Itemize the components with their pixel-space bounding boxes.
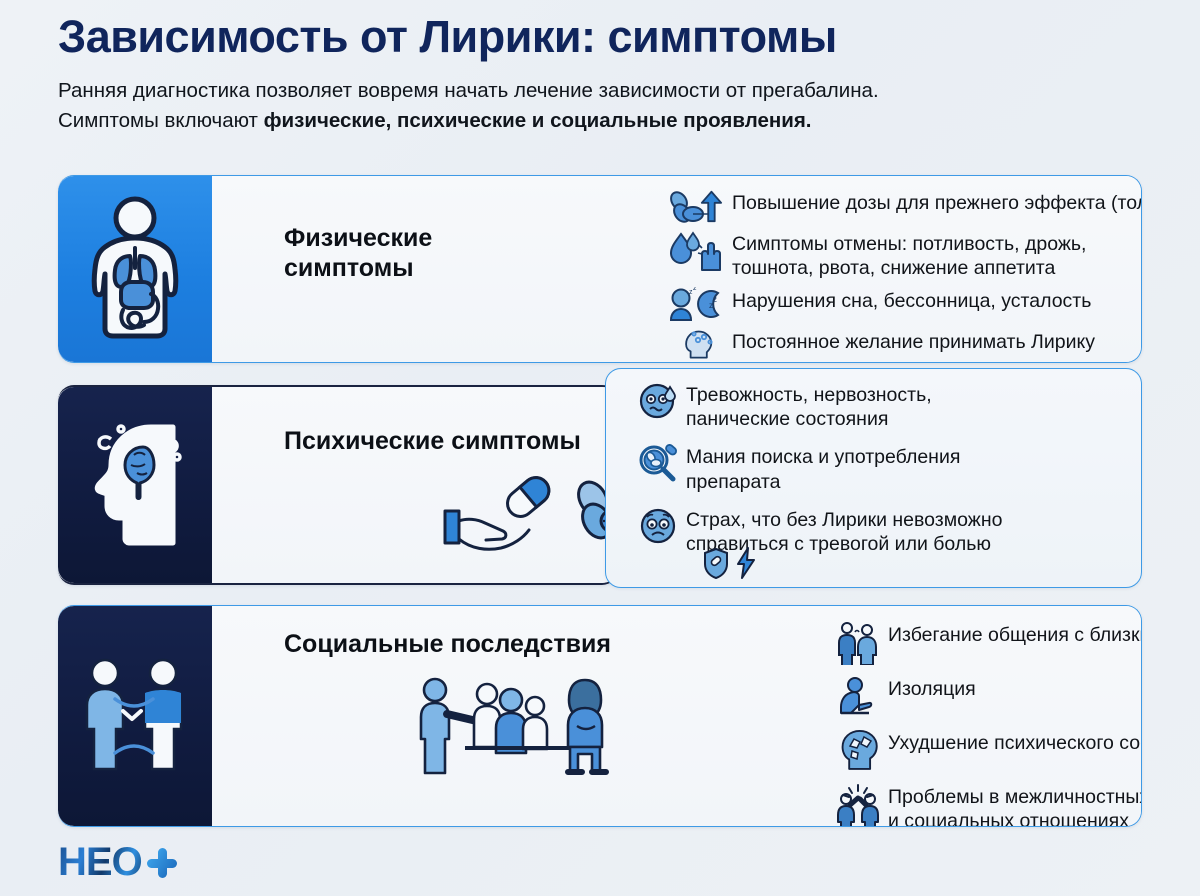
card-heading-physical: Физические симптомы [284, 224, 432, 283]
sweat-drops-trembling-hand-icon [664, 230, 724, 272]
craving-head-icon [664, 328, 724, 362]
head-brain-icon [81, 421, 189, 549]
mental-extra-icons [702, 547, 756, 579]
header: Зависимость от Лирики: симптомы Ранняя д… [58, 12, 1148, 135]
pills-up-arrow-icon [664, 189, 724, 223]
panel-social [58, 606, 212, 826]
logo: НЕО [58, 840, 177, 885]
logo-plus-icon [147, 848, 177, 878]
list-item: Избегание общения с близкими [834, 621, 1142, 665]
list-item-text: Симптомы отмены: потливость, дрожь, тошн… [732, 230, 1086, 280]
list-item: Изоляция [834, 675, 1142, 719]
hand-with-pills-icon [427, 469, 618, 561]
fearful-face-icon [634, 506, 678, 546]
page-subtitle: Ранняя диагностика позволяет вовремя нач… [58, 76, 1128, 134]
mental-symptoms-list-box: Тревожность, нервозность, панические сос… [605, 368, 1142, 588]
magnifier-pills-icon [634, 443, 678, 483]
two-people-handshake-icon [79, 655, 191, 777]
list-item: Мания поиска и употребления препарата [634, 443, 1134, 493]
svg-text:z: z [713, 295, 717, 304]
list-item-text: Нарушения сна, бессонница, усталость [732, 287, 1091, 313]
deteriorating-mind-icon [834, 729, 880, 773]
isolated-person-icon [834, 675, 880, 719]
lightning-bolt-icon [736, 547, 756, 579]
list-social-consequences: Избегание общения с близкими [834, 621, 1142, 827]
list-item-text: Тревожность, нервозность, панические сос… [686, 381, 932, 431]
shield-pill-icon [702, 547, 730, 579]
panel-physical [58, 176, 212, 362]
list-item-text: Избегание общения с близкими [888, 621, 1142, 647]
list-mental-symptoms: Тревожность, нервозность, панические сос… [634, 381, 1134, 568]
card-physical-symptoms: Физические симптомы [58, 175, 1142, 363]
sleepy-face-moon-icon: zz zz [664, 287, 724, 321]
list-item: Тревожность, нервозность, панические сос… [634, 381, 1134, 431]
group-of-people-icon [407, 666, 657, 806]
card-heading-mental: Психические симптомы [284, 427, 581, 457]
card-heading-social: Социальные последствия [284, 630, 611, 660]
human-body-organs-icon [81, 194, 189, 344]
anxious-face-icon [634, 381, 678, 421]
card-mental-symptoms: Психические симптомы [58, 385, 618, 585]
infographic-page: Зависимость от Лирики: симптомы Ранняя д… [0, 0, 1200, 896]
svg-text:z: z [693, 287, 697, 292]
list-item: Симптомы отмены: потливость, дрожь, тошн… [664, 230, 1142, 280]
avoiding-people-icon [834, 621, 880, 665]
list-item: Повышение дозы для прежнего эффекта (тол… [664, 189, 1142, 223]
conflict-people-icon [834, 783, 880, 827]
list-item-text: Ухудшение психического состояния [888, 729, 1142, 755]
page-title: Зависимость от Лирики: симптомы [58, 12, 1148, 62]
list-item-text: Постоянное желание принимать Лирику [732, 328, 1095, 354]
subtitle-line-1: Ранняя диагностика позволяет вовремя нач… [58, 79, 879, 102]
list-item-text: Мания поиска и употребления препарата [686, 443, 960, 493]
list-item-text: Повышение дозы для прежнего эффекта (тол… [732, 189, 1142, 215]
panel-mental [58, 387, 212, 583]
list-item: Ухудшение психического состояния [834, 729, 1142, 773]
logo-text: НЕО [58, 840, 142, 885]
list-physical-symptoms: Повышение дозы для прежнего эффекта (тол… [664, 189, 1142, 363]
list-item: zz zz Нарушения сна, бессонница, усталос… [664, 287, 1142, 321]
subtitle-line-2-bold: физические, психические и социальные про… [264, 109, 812, 132]
subtitle-line-2-regular: Симптомы включают [58, 109, 264, 132]
list-item: Проблемы в межличностных и социальных от… [834, 783, 1142, 827]
list-item-text: Изоляция [888, 675, 976, 701]
card-social-consequences: Социальные последствия [58, 605, 1142, 827]
list-item-text: Проблемы в межличностных и социальных от… [888, 783, 1142, 827]
list-item: Постоянное желание принимать Лирику [664, 328, 1142, 362]
